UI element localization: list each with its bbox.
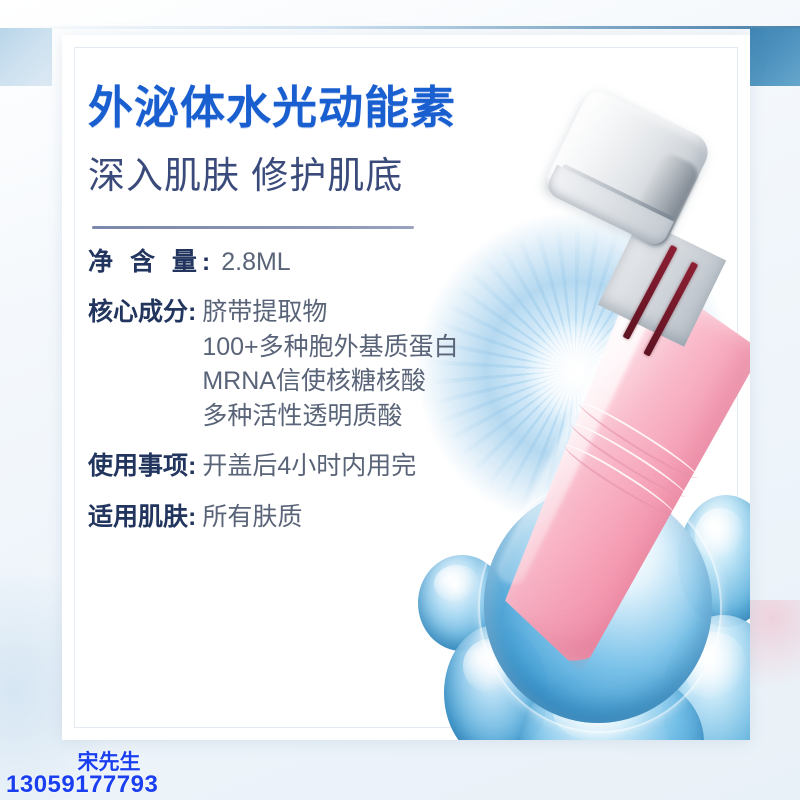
advertisement-canvas: 外泌体水光动能素 深入肌肤 修护肌底 净 含 量:2.8ML核心成分:脐带提取物… xyxy=(0,0,800,800)
spec-label: 净 含 量: xyxy=(88,245,215,280)
spec-values: 开盖后4小时内用完 xyxy=(202,449,416,484)
watermark: 宋先生 13059177793 xyxy=(6,752,236,798)
spec-label: 核心成分: xyxy=(88,295,196,330)
watermark-name: 宋先生 xyxy=(34,752,184,773)
spec-row: 适用肌肤:所有肤质 xyxy=(88,500,528,535)
spec-value: 100+多种胞外基质蛋白 xyxy=(202,330,458,365)
product-subtitle: 深入肌肤 修护肌底 xyxy=(88,155,528,198)
spec-values: 脐带提取物100+多种胞外基质蛋白MRNA信使核糖核酸多种活性透明质酸 xyxy=(202,295,458,433)
product-title: 外泌体水光动能素 xyxy=(88,83,528,133)
text-content-column: 外泌体水光动能素 深入肌肤 修护肌底 净 含 量:2.8ML核心成分:脐带提取物… xyxy=(88,83,528,534)
top-accent-bar xyxy=(0,26,800,29)
spec-label: 适用肌肤: xyxy=(88,500,196,535)
spec-row: 使用事项:开盖后4小时内用完 xyxy=(88,449,528,484)
specification-list: 净 含 量:2.8ML核心成分:脐带提取物100+多种胞外基质蛋白MRNA信使核… xyxy=(88,245,528,535)
spec-values: 2.8ML xyxy=(221,245,290,280)
spec-values: 所有肤质 xyxy=(202,500,302,535)
section-divider xyxy=(92,226,414,229)
spec-value: 多种活性透明质酸 xyxy=(202,399,458,434)
product-info-card: 外泌体水光动能素 深入肌肤 修护肌底 净 含 量:2.8ML核心成分:脐带提取物… xyxy=(62,35,750,740)
watermark-phone: 13059177793 xyxy=(6,773,236,797)
spec-label: 使用事项: xyxy=(88,449,196,484)
spec-value: 开盖后4小时内用完 xyxy=(202,449,416,484)
spec-value: MRNA信使核糖核酸 xyxy=(202,364,458,399)
spec-row: 核心成分:脐带提取物100+多种胞外基质蛋白MRNA信使核糖核酸多种活性透明质酸 xyxy=(88,295,528,433)
spec-value: 脐带提取物 xyxy=(202,295,458,330)
spec-value: 2.8ML xyxy=(221,245,290,280)
spec-row: 净 含 量:2.8ML xyxy=(88,245,528,280)
spec-value: 所有肤质 xyxy=(202,500,302,535)
decor-square-top-right xyxy=(750,28,800,86)
decor-square-top-left xyxy=(0,28,52,86)
